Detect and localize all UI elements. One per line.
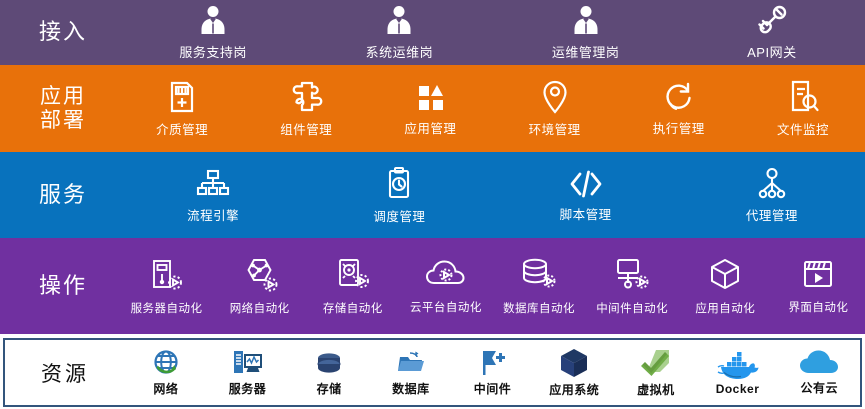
media-card-icon — [165, 79, 199, 115]
item-app-system[interactable]: 应用系统 — [533, 340, 615, 405]
item-virtual-machine[interactable]: 虚拟机 — [615, 340, 697, 405]
item-label: Docker — [716, 382, 760, 396]
cube-icon — [558, 347, 590, 379]
band-deploy-items: 介质管理 组件管理 — [120, 65, 865, 152]
item-label: 服务器 — [229, 380, 267, 397]
band-deploy-label-line1: 应用 — [6, 85, 120, 109]
clipboard-clock-icon — [383, 166, 415, 202]
item-label: 云平台自动化 — [410, 299, 482, 315]
item-label: 服务器自动化 — [131, 300, 203, 316]
item-label: 公有云 — [800, 379, 838, 396]
item-storage[interactable]: 存储 — [288, 340, 370, 405]
item-label: 脚本管理 — [560, 204, 612, 223]
folder-db-icon — [394, 348, 428, 378]
item-middleware-automation[interactable]: 中间件自动化 — [586, 238, 679, 334]
item-flow-engine[interactable]: 流程引擎 — [120, 152, 306, 238]
item-label: 存储自动化 — [323, 300, 383, 316]
item-label: 界面自动化 — [788, 299, 848, 315]
flow-tree-icon — [195, 167, 231, 201]
agent-node-icon — [755, 167, 789, 201]
item-label: 应用自动化 — [695, 300, 755, 316]
item-public-cloud[interactable]: 公有云 — [778, 340, 860, 405]
item-schedule-mgmt[interactable]: 调度管理 — [306, 152, 492, 238]
band-deploy: 应用 部署 介质管理 — [0, 65, 865, 152]
item-ui-automation[interactable]: 界面自动化 — [772, 238, 865, 334]
globe-icon — [151, 348, 181, 378]
storage-auto-icon — [333, 256, 373, 296]
item-label: 应用系统 — [549, 381, 599, 398]
network-auto-icon — [239, 256, 281, 296]
item-storage-automation[interactable]: 存储自动化 — [306, 238, 399, 334]
band-service: 服务 流程引擎 — [0, 152, 865, 238]
item-docker[interactable]: Docker — [697, 340, 779, 405]
item-label: 组件管理 — [280, 119, 332, 138]
blocks-icon — [413, 80, 447, 114]
item-component-mgmt[interactable]: 组件管理 — [244, 65, 368, 152]
item-label: 文件监控 — [777, 119, 829, 138]
item-label: 中间件自动化 — [596, 300, 668, 316]
band-service-items: 流程引擎 调度管理 — [120, 152, 865, 238]
item-agent-mgmt[interactable]: 代理管理 — [679, 152, 865, 238]
cloud-auto-icon — [424, 257, 468, 295]
item-middleware[interactable]: 中间件 — [452, 340, 534, 405]
item-service-support[interactable]: 服务支持岗 — [120, 0, 306, 65]
item-env-mgmt[interactable]: 环境管理 — [493, 65, 617, 152]
band-service-label: 服务 — [0, 183, 120, 208]
band-resource: 资源 网络 — [0, 334, 865, 409]
public-cloud-icon — [798, 349, 840, 377]
item-system-ops[interactable]: 系统运维岗 — [306, 0, 492, 65]
item-server-automation[interactable]: 服务器自动化 — [120, 238, 213, 334]
item-label: 运维管理岗 — [552, 42, 620, 61]
ui-play-auto-icon — [798, 257, 838, 295]
item-label: 介质管理 — [156, 119, 208, 138]
puzzle-piece-icon — [288, 79, 324, 115]
item-cloud-automation[interactable]: 云平台自动化 — [399, 238, 492, 334]
band-deploy-label: 应用 部署 — [0, 85, 120, 132]
item-file-monitor[interactable]: 文件监控 — [741, 65, 865, 152]
item-app-mgmt[interactable]: 应用管理 — [368, 65, 492, 152]
item-label: 网络 — [153, 380, 178, 397]
band-resource-label: 资源 — [5, 358, 125, 388]
user-support-icon — [196, 4, 230, 38]
item-label: 存储 — [317, 380, 342, 397]
api-plug-icon — [754, 4, 790, 38]
database-auto-icon — [518, 256, 560, 296]
item-label: 流程引擎 — [187, 205, 239, 224]
item-label: 数据库自动化 — [503, 300, 575, 316]
band-access: 接入 服务支持岗 — [0, 0, 865, 65]
band-resource-items: 网络 — [125, 340, 860, 405]
band-access-items: 服务支持岗 系统运维岗 — [120, 0, 865, 65]
item-api-gateway[interactable]: API网关 — [679, 0, 865, 65]
item-database[interactable]: 数据库 — [370, 340, 452, 405]
item-label: 网络自动化 — [230, 300, 290, 316]
item-server[interactable]: 服务器 — [207, 340, 289, 405]
flag-plus-icon — [478, 348, 508, 378]
app-cube-auto-icon — [705, 256, 745, 296]
item-label: 执行管理 — [653, 118, 705, 137]
item-network-automation[interactable]: 网络自动化 — [213, 238, 306, 334]
vm-check-icon — [638, 347, 674, 379]
item-exec-mgmt[interactable]: 执行管理 — [617, 65, 741, 152]
user-manager-icon — [569, 4, 603, 38]
band-operate-label: 操作 — [0, 274, 120, 299]
item-label: 环境管理 — [529, 119, 581, 138]
location-pin-icon — [538, 79, 572, 115]
server-monitor-icon — [231, 348, 265, 378]
server-auto-icon — [147, 256, 187, 296]
resource-box: 资源 网络 — [3, 338, 862, 407]
disk-stack-icon — [312, 348, 346, 378]
item-label: 调度管理 — [373, 206, 425, 225]
docker-whale-icon — [716, 350, 760, 380]
refresh-cycle-icon — [662, 80, 696, 114]
band-operate-items: 服务器自动化 — [120, 238, 865, 334]
item-label: 虚拟机 — [637, 381, 675, 398]
document-search-icon — [786, 79, 820, 115]
item-label: 服务支持岗 — [179, 42, 247, 61]
item-label: 应用管理 — [404, 118, 456, 137]
item-label: 中间件 — [474, 380, 512, 397]
code-brackets-icon — [567, 168, 605, 200]
architecture-diagram: 接入 服务支持岗 — [0, 0, 865, 409]
item-label: API网关 — [747, 42, 796, 61]
item-app-automation[interactable]: 应用自动化 — [679, 238, 772, 334]
band-operate: 操作 服务器自动化 — [0, 238, 865, 334]
band-deploy-label-line2: 部署 — [6, 109, 120, 133]
item-media-mgmt[interactable]: 介质管理 — [120, 65, 244, 152]
middleware-auto-icon — [611, 256, 653, 296]
item-label: 代理管理 — [746, 205, 798, 224]
item-label: 系统运维岗 — [366, 42, 434, 61]
user-ops-icon — [382, 4, 416, 38]
item-network[interactable]: 网络 — [125, 340, 207, 405]
item-database-automation[interactable]: 数据库自动化 — [493, 238, 586, 334]
item-label: 数据库 — [392, 380, 430, 397]
item-ops-manager[interactable]: 运维管理岗 — [493, 0, 679, 65]
item-script-mgmt[interactable]: 脚本管理 — [493, 152, 679, 238]
band-access-label: 接入 — [0, 20, 120, 45]
